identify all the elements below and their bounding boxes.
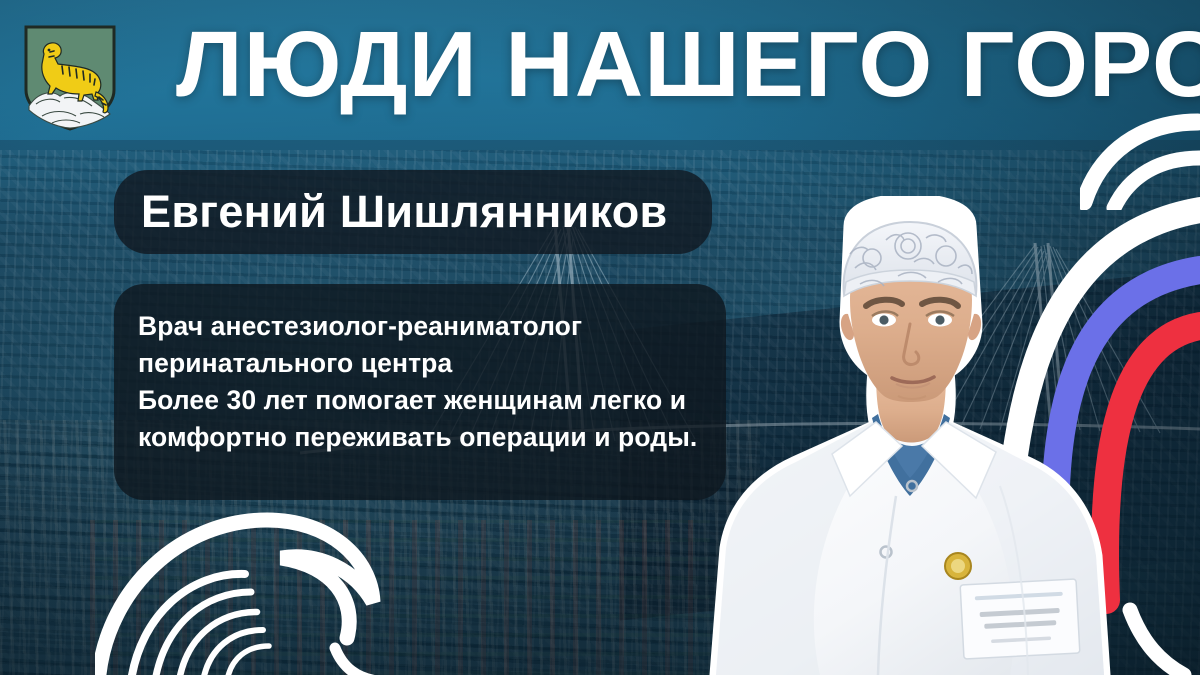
description-line-4: комфортно переживать операции и роды. <box>138 419 702 456</box>
description-line-3: Более 30 лет помогает женщинам легко и <box>138 382 702 419</box>
wave-graphic-icon <box>95 496 565 675</box>
person-name: Евгений Шишлянников <box>114 186 668 238</box>
name-badge <box>960 579 1080 659</box>
person-description-panel: Врач анестезиолог-реаниматолог перинатал… <box>114 284 726 500</box>
person-photo <box>700 196 1120 675</box>
description-line-1: Врач анестезиолог-реаниматолог <box>138 308 702 345</box>
person-name-panel: Евгений Шишлянников <box>114 170 712 254</box>
vladivostok-coat-of-arms-icon <box>22 24 118 132</box>
poster-root: ЛЮДИ НАШЕГО ГОРОДА Евгений Шишлянников В… <box>0 0 1200 675</box>
page-title: ЛЮДИ НАШЕГО ГОРОДА <box>176 14 1053 114</box>
ribbon-white-lower-icon <box>1130 610 1184 675</box>
description-line-2: перинатального центра <box>138 345 702 382</box>
